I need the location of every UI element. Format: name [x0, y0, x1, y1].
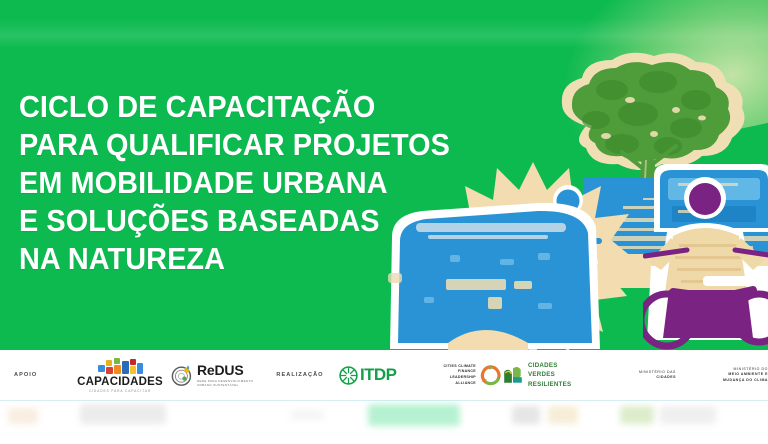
headline-line-2: PARA QUALIFICAR PROJETOS — [19, 126, 419, 164]
execution-label: REALIZAÇÃO — [262, 372, 338, 378]
capacidades-squares-icon — [94, 358, 146, 375]
secondary-logo-strip-blur — [0, 400, 768, 432]
ccfla-circular-arrow-icon — [479, 364, 502, 387]
support-label: APOIO — [14, 372, 70, 378]
cvr-line-1: CIDADES — [528, 361, 571, 370]
logo-redus[interactable]: ReDUS REDE PARA DESENVOLVIMENTO URBANO S… — [170, 363, 262, 387]
headline: CICLO DE CAPACITAÇÃO PARA QUALIFICAR PRO… — [19, 88, 449, 278]
capacidades-name: CAPACIDADES — [77, 376, 163, 388]
partner-logo-bar: APOIO CAPACIDADES CIDADES PARA CAPACITAR — [0, 350, 768, 400]
ministerio-ma-line-3: MUDANÇA DO CLIMA — [676, 378, 768, 383]
footer-divider — [0, 400, 768, 401]
redus-tagline-2: URBANO SUSTENTÁVEL — [197, 383, 253, 387]
cidades-verdes-leaf-icon — [502, 364, 524, 386]
motorcycle-rider-illustration — [643, 170, 768, 350]
headline-line-5: NA NATUREZA — [19, 240, 419, 278]
illustration-collage — [398, 0, 768, 350]
capacidades-tagline: CIDADES PARA CAPACITAR — [89, 389, 151, 393]
logo-itdp[interactable]: ITDP — [338, 365, 410, 386]
redus-circle-icon — [170, 363, 194, 387]
ministerio-cidades-line-2: CIDADES — [602, 375, 676, 380]
cvr-line-2: VERDES — [528, 370, 571, 379]
cvr-line-3: RESILIENTES — [528, 380, 571, 389]
logo-cidades-verdes-resilientes[interactable]: CIDADES VERDES RESILIENTES — [502, 361, 602, 389]
logo-ministerio-meio-ambiente[interactable]: MINISTÉRIO DO MEIO AMBIENTE E MUDANÇA DO… — [676, 367, 768, 383]
secondary-logo-strip — [0, 400, 768, 444]
headline-line-4: E SOLUÇÕES BASEADAS — [19, 202, 419, 240]
campaign-banner: CICLO DE CAPACITAÇÃO PARA QUALIFICAR PRO… — [0, 0, 768, 444]
ccfla-line-4: ALLIANCE — [444, 381, 476, 387]
headline-line-3: EM MOBILIDADE URBANA — [19, 164, 419, 202]
logo-ccfla[interactable]: CITIES CLIMATE FINANCE LEADERSHIP ALLIAN… — [410, 364, 502, 387]
itdp-wheel-icon — [338, 365, 359, 386]
redus-name: ReDUS — [197, 363, 253, 377]
logo-ministerio-das-cidades[interactable]: MINISTÉRIO DAS CIDADES — [602, 370, 676, 381]
headline-line-1: CICLO DE CAPACITAÇÃO — [19, 88, 419, 126]
itdp-name: ITDP — [360, 365, 396, 385]
logo-capacidades[interactable]: CAPACIDADES CIDADES PARA CAPACITAR — [70, 358, 170, 393]
